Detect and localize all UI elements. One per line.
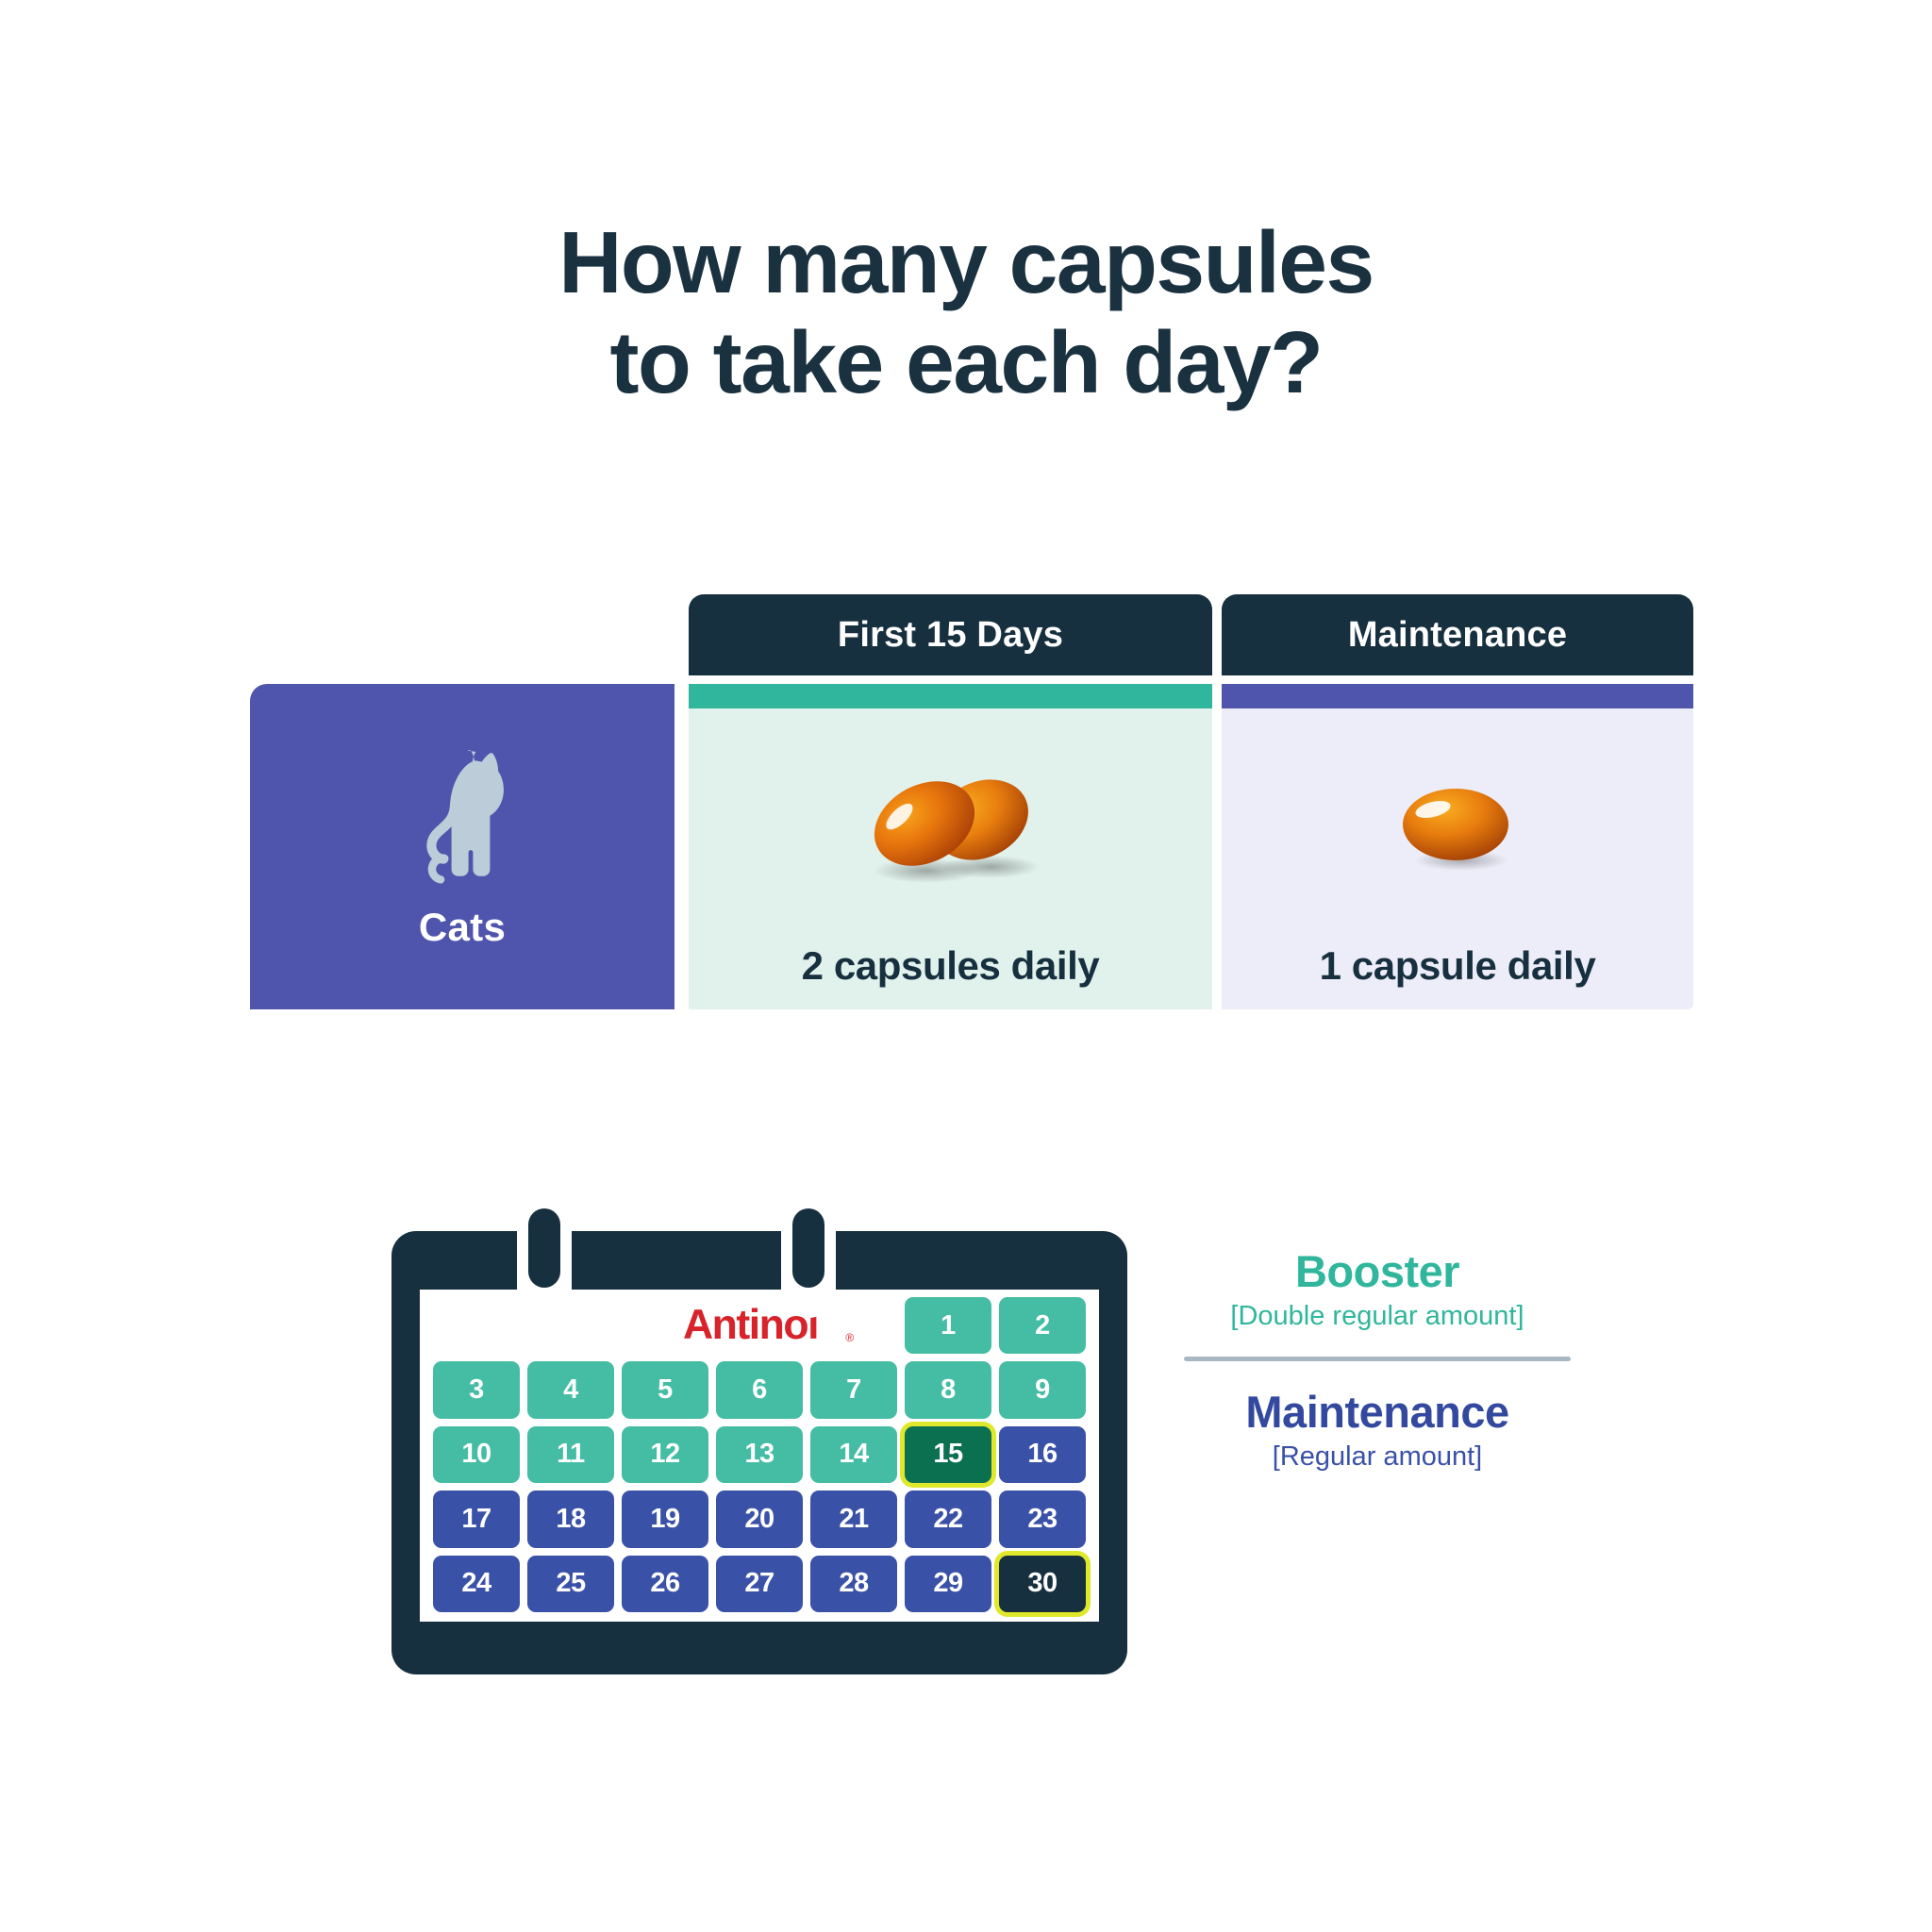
calendar-day-19: 19 bbox=[622, 1491, 708, 1547]
animal-label: Cats bbox=[419, 905, 506, 950]
table-header-maintenance: Maintenance bbox=[1222, 594, 1693, 675]
calendar-day-7: 7 bbox=[810, 1361, 897, 1418]
calendar-day-22: 22 bbox=[905, 1491, 991, 1547]
animal-cell-cats: Cats bbox=[250, 684, 675, 1009]
calendar-day-18: 18 bbox=[527, 1491, 614, 1547]
calendar-day-14: 14 bbox=[810, 1426, 897, 1483]
calendar-day-24: 24 bbox=[433, 1556, 520, 1612]
dose-cell-maintenance: 1 capsule daily bbox=[1222, 684, 1693, 1009]
calendar-hook-right bbox=[781, 1203, 836, 1318]
infographic-root: How many capsules to take each day? Firs… bbox=[0, 0, 1932, 1932]
legend-booster-subtitle: [Double regular amount] bbox=[1184, 1301, 1571, 1332]
title-line-2: to take each day? bbox=[0, 312, 1932, 412]
calendar-day-6: 6 bbox=[716, 1361, 803, 1418]
legend-maintenance-title: Maintenance bbox=[1184, 1386, 1571, 1438]
calendar-day-4: 4 bbox=[527, 1361, 614, 1418]
dose-label-first-15-days: 2 capsules daily bbox=[802, 943, 1100, 989]
calendar-day-15: 15 bbox=[905, 1426, 991, 1483]
dosing-calendar: Antinol ® 123456789101112131415161718192… bbox=[391, 1203, 1127, 1674]
calendar-day-21: 21 bbox=[810, 1491, 897, 1547]
calendar-page: Antinol ® 123456789101112131415161718192… bbox=[420, 1290, 1099, 1622]
calendar-day-23: 23 bbox=[999, 1491, 1086, 1547]
legend-booster-title: Booster bbox=[1184, 1245, 1571, 1297]
table-header-maintenance-label: Maintenance bbox=[1348, 615, 1567, 656]
dose-cell-first-15-days: 2 capsules daily bbox=[689, 684, 1212, 1009]
table-header-first-15-days-label: First 15 Days bbox=[838, 615, 1063, 656]
svg-text:®: ® bbox=[845, 1331, 854, 1344]
cat-icon bbox=[406, 744, 519, 895]
dose-label-maintenance: 1 capsule daily bbox=[1320, 943, 1596, 989]
legend-divider bbox=[1184, 1357, 1571, 1361]
calendar-day-29: 29 bbox=[905, 1556, 991, 1612]
title-line-1: How many capsules bbox=[0, 212, 1932, 312]
calendar-day-11: 11 bbox=[527, 1426, 614, 1483]
calendar-grid: Antinol ® 123456789101112131415161718192… bbox=[433, 1297, 1086, 1612]
calendar-day-27: 27 bbox=[716, 1556, 803, 1612]
calendar-day-9: 9 bbox=[999, 1361, 1086, 1418]
legend-maintenance-subtitle: [Regular amount] bbox=[1184, 1441, 1571, 1473]
calendar-day-2: 2 bbox=[999, 1297, 1086, 1354]
calendar-day-10: 10 bbox=[433, 1426, 520, 1483]
page-title: How many capsules to take each day? bbox=[0, 212, 1932, 412]
calendar-day-30: 30 bbox=[999, 1556, 1086, 1612]
calendar-day-5: 5 bbox=[622, 1361, 708, 1418]
table-header-first-15-days: First 15 Days bbox=[689, 594, 1212, 675]
calendar-day-3: 3 bbox=[433, 1361, 520, 1418]
two-capsules-image bbox=[689, 708, 1212, 943]
calendar-hook-left bbox=[517, 1203, 572, 1318]
calendar-day-20: 20 bbox=[716, 1491, 803, 1547]
dosage-table: First 15 Days Maintenance Cats bbox=[250, 594, 1693, 1009]
one-capsule-image bbox=[1222, 708, 1693, 943]
calendar-day-28: 28 bbox=[810, 1556, 897, 1612]
calendar-day-17: 17 bbox=[433, 1491, 520, 1547]
calendar-day-12: 12 bbox=[622, 1426, 708, 1483]
calendar-day-26: 26 bbox=[622, 1556, 708, 1612]
calendar-legend: Booster [Double regular amount] Maintena… bbox=[1184, 1245, 1571, 1473]
calendar-day-25: 25 bbox=[527, 1556, 614, 1612]
calendar-day-16: 16 bbox=[999, 1426, 1086, 1483]
calendar-day-1: 1 bbox=[905, 1297, 991, 1354]
calendar-day-13: 13 bbox=[716, 1426, 803, 1483]
calendar-day-8: 8 bbox=[905, 1361, 991, 1418]
